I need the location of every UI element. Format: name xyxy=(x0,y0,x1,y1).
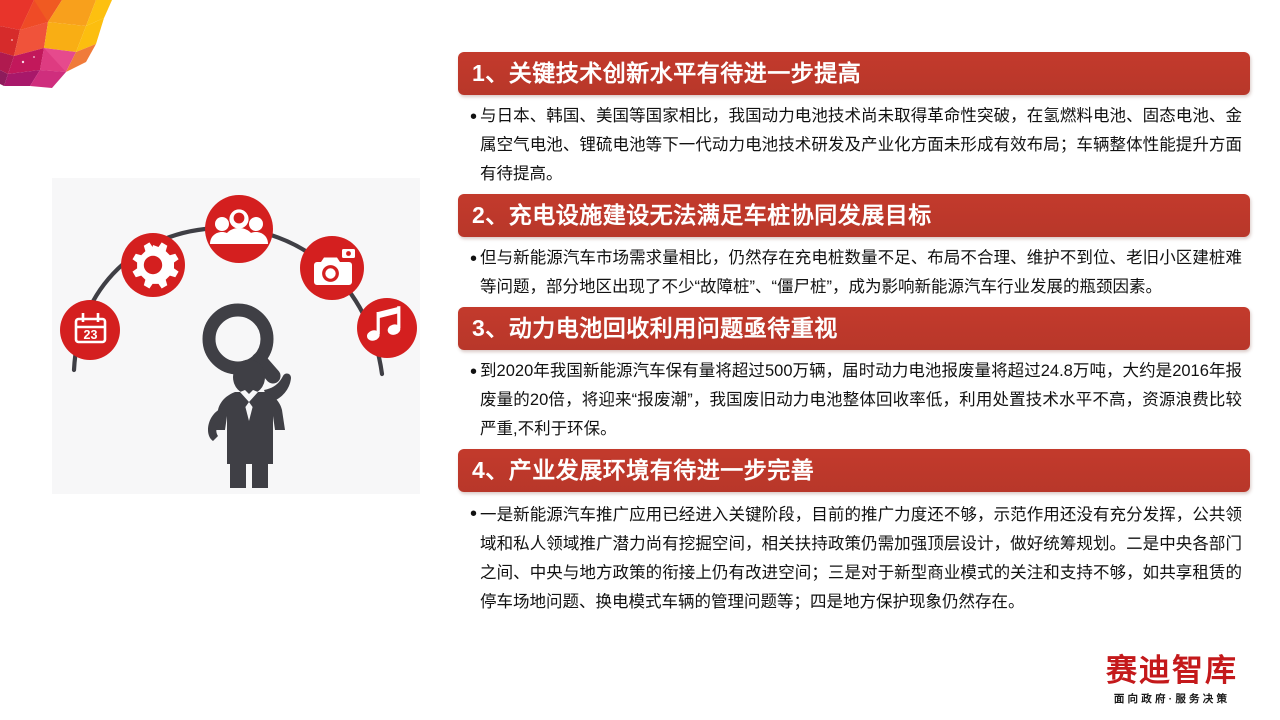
deco-shard-9 xyxy=(0,52,14,74)
deco-shard-5 xyxy=(0,26,20,56)
polygon-corner-decoration xyxy=(0,0,112,88)
person-leg-right xyxy=(252,462,268,488)
deco-shard-14 xyxy=(4,70,40,86)
section-2-body: • 但与新能源汽车市场需求量相比，仍然存在充电桩数量不足、布局不合理、维护不到位… xyxy=(458,237,1250,304)
person-head xyxy=(233,360,265,395)
section-3-body: • 到2020年我国新能源汽车保有量将超过500万辆，届时动力电池报废量将超过2… xyxy=(458,350,1250,446)
section-3: 3、动力电池回收利用问题亟待重视 • 到2020年我国新能源汽车保有量将超过50… xyxy=(458,307,1250,446)
deco-shard-12 xyxy=(66,44,96,72)
deco-sparkle-3 xyxy=(11,39,13,41)
deco-shard-16 xyxy=(20,0,48,30)
deco-shard-4 xyxy=(86,0,112,26)
deco-shard-13 xyxy=(0,70,8,86)
icon-node-camera xyxy=(300,236,364,300)
content-column: 1、关键技术创新水平有待进一步提高 • 与日本、韩国、美国等国家相比，我国动力电… xyxy=(458,52,1250,618)
icon-node-users xyxy=(205,195,273,263)
brand-logo-name: 赛迪智库 xyxy=(1088,655,1256,688)
section-3-body-text: 到2020年我国新能源汽车保有量将超过500万辆，届时动力电池报废量将超过24.… xyxy=(480,357,1242,444)
section-1-heading: 1、关键技术创新水平有待进一步提高 xyxy=(458,52,1250,95)
deco-shard-15 xyxy=(30,70,66,88)
section-3-bullet: • xyxy=(470,358,477,387)
calendar-day-label: 23 xyxy=(84,328,98,342)
deco-shard-7 xyxy=(44,22,86,52)
deco-shard-3 xyxy=(48,0,96,26)
section-4-bullet: • xyxy=(470,500,477,529)
person-leg-left xyxy=(230,462,246,488)
section-1-bullet: • xyxy=(470,103,477,132)
icon-node-gear xyxy=(121,233,185,297)
icon-node-music xyxy=(357,298,417,358)
section-4: 4、产业发展环境有待进一步完善 • 一是新能源汽车推广应用已经进入关键阶段，目前… xyxy=(458,449,1250,617)
section-2-heading: 2、充电设施建设无法满足车桩协同发展目标 xyxy=(458,194,1250,237)
illustration-panel: 23 xyxy=(52,178,420,494)
deco-sparkle-2 xyxy=(33,56,35,58)
section-1: 1、关键技术创新水平有待进一步提高 • 与日本、韩国、美国等国家相比，我国动力电… xyxy=(458,52,1250,191)
deco-shard-17 xyxy=(40,48,66,72)
deco-shard-2 xyxy=(20,0,62,30)
slide-root: 23 xyxy=(0,0,1280,720)
deco-shard-10 xyxy=(8,48,44,74)
node-circle-music xyxy=(357,298,417,358)
section-4-body: • 一是新能源汽车推广应用已经进入关键阶段，目前的推广力度还不够，示范作用还没有… xyxy=(458,492,1250,617)
section-1-body: • 与日本、韩国、美国等国家相比，我国动力电池技术尚未取得革命性突破，在氢燃料电… xyxy=(458,95,1250,191)
section-4-heading: 4、产业发展环境有待进一步完善 xyxy=(458,449,1250,492)
section-4-body-text: 一是新能源汽车推广应用已经进入关键阶段，目前的推广力度还不够，示范作用还没有充分… xyxy=(480,501,1242,617)
deco-shard-11 xyxy=(40,48,76,72)
icon-node-calendar: 23 xyxy=(60,300,120,360)
section-3-heading: 3、动力电池回收利用问题亟待重视 xyxy=(458,307,1250,350)
section-2: 2、充电设施建设无法满足车桩协同发展目标 • 但与新能源汽车市场需求量相比，仍然… xyxy=(458,194,1250,304)
deco-shard-8 xyxy=(76,18,104,52)
deco-sparkle-1 xyxy=(22,61,24,63)
deco-shard-1 xyxy=(0,0,34,30)
section-2-bullet: • xyxy=(470,245,477,274)
section-2-body-text: 但与新能源汽车市场需求量相比，仍然存在充电桩数量不足、布局不合理、维护不到位、老… xyxy=(480,244,1242,302)
brand-logo-tagline: 面向政府·服务决策 xyxy=(1088,691,1256,706)
section-1-body-text: 与日本、韩国、美国等国家相比，我国动力电池技术尚未取得革命性突破，在氢燃料电池、… xyxy=(480,102,1242,189)
brand-logo: 赛迪智库 面向政府·服务决策 xyxy=(1088,655,1256,706)
deco-shard-6 xyxy=(14,22,48,56)
